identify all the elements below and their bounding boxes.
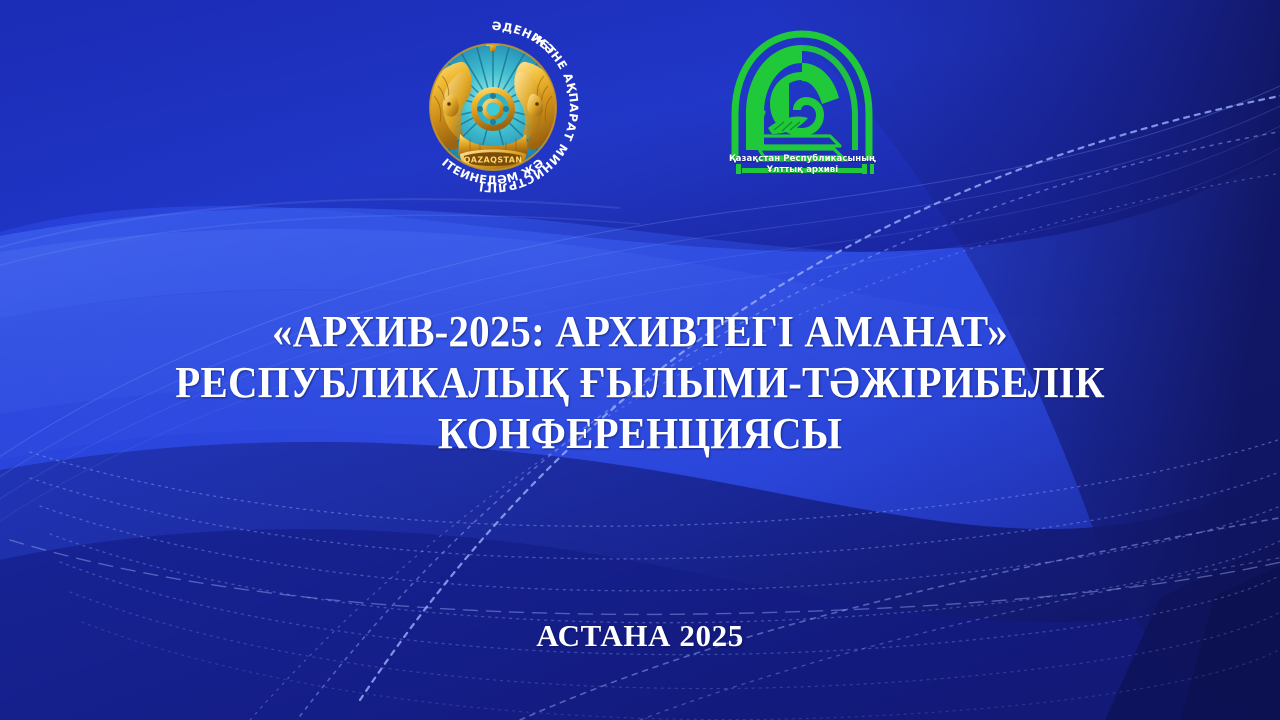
title-line-1: «АРХИВ-2025: АРХИВТЕГІ АМАНАТ» xyxy=(101,306,1180,357)
title-line-2: РЕСПУБЛИКАЛЫҚ ҒЫЛЫМИ-ТӘЖІРИБЕЛІК xyxy=(101,357,1180,408)
slide-footer-location-year: АСТАНА 2025 xyxy=(0,618,1280,654)
slide-title: «АРХИВ-2025: АРХИВТЕГІ АМАНАТ» РЕСПУБЛИК… xyxy=(60,306,1220,459)
presentation-slide: QAZAQSTAN ЖӘНЕ АҚПАРАТ МИНИСТРЛІГІ ІТЕИН… xyxy=(0,0,1280,720)
title-line-3: КОНФЕРЕНЦИЯСЫ xyxy=(101,408,1180,459)
